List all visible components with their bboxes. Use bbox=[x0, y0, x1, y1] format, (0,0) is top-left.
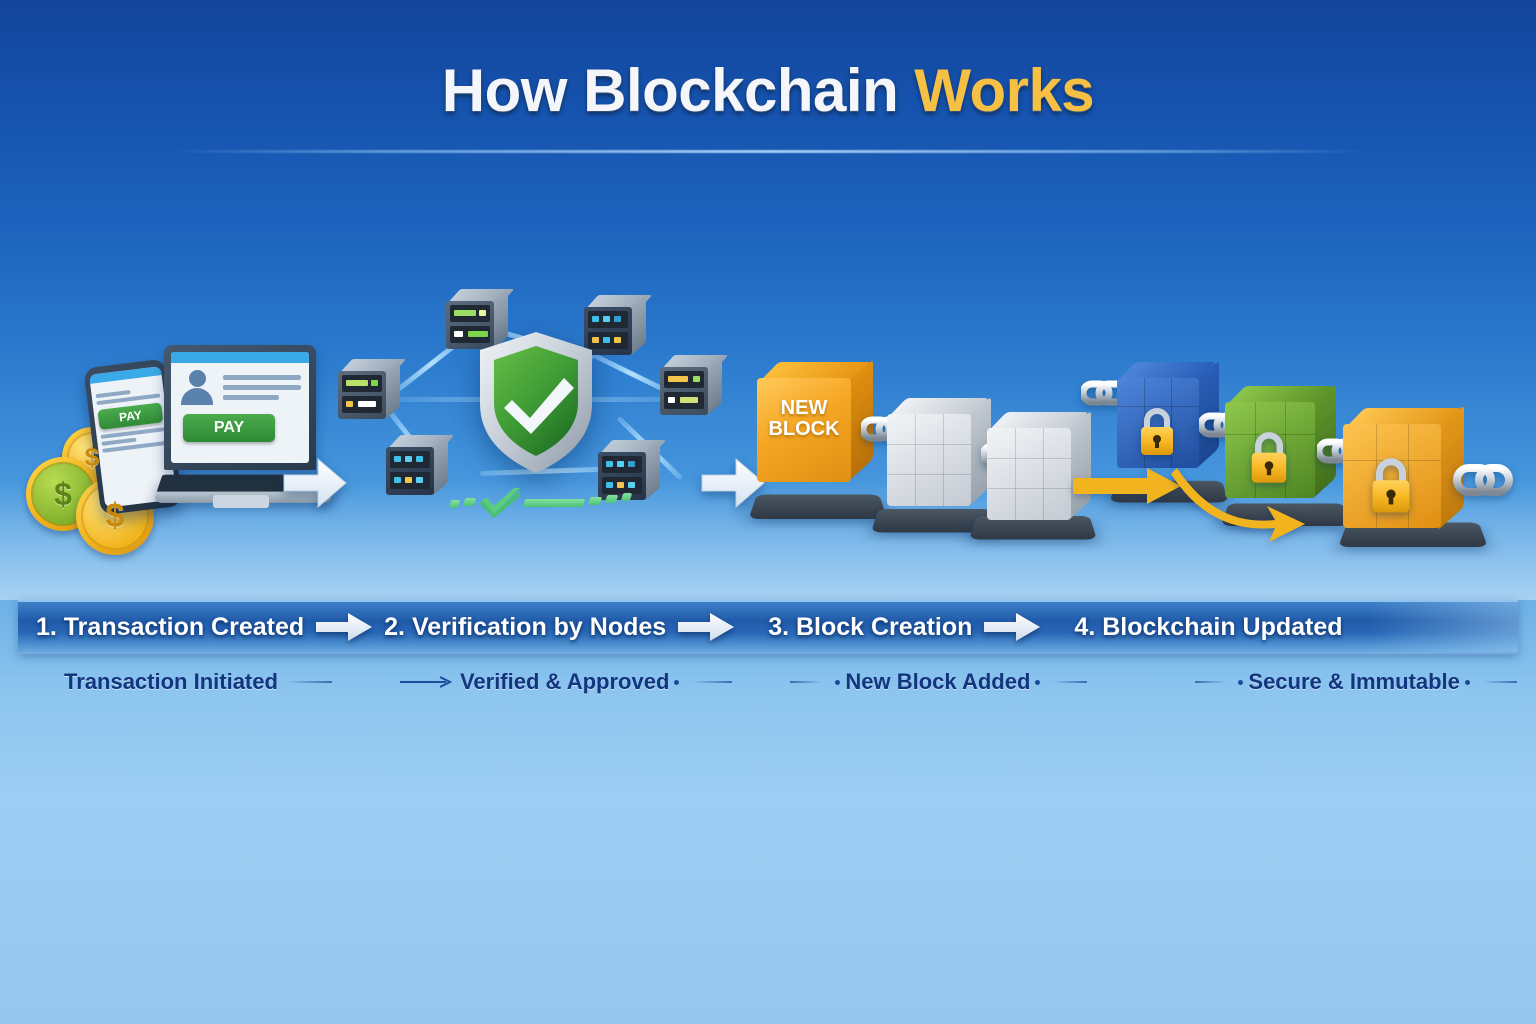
connector-line bbox=[692, 681, 732, 683]
sub-arrow-icon bbox=[400, 676, 454, 688]
block-pedestal bbox=[749, 495, 888, 520]
stage-block-creation: NEW BLOCK bbox=[735, 350, 1105, 565]
process-step-bar: 1. Transaction Created 2. Verification b… bbox=[18, 600, 1518, 654]
new-block-text: NEW BLOCK bbox=[765, 398, 843, 440]
sublabel-3: New Block Added bbox=[782, 662, 1095, 702]
sublabel-1-text: Transaction Initiated bbox=[64, 669, 278, 695]
step-4[interactable]: 4. Blockchain Updated bbox=[1074, 602, 1342, 652]
padlock-icon bbox=[1365, 456, 1417, 516]
sublabel-4: Secure & Immutable bbox=[1187, 662, 1525, 702]
connector-dot bbox=[674, 680, 679, 685]
update-arrow-curved-icon bbox=[1171, 462, 1311, 542]
sublabel-2: Verified & Approved bbox=[400, 662, 740, 702]
step-1-label: 1. Transaction Created bbox=[36, 613, 304, 642]
locked-block-orange bbox=[1343, 408, 1469, 530]
step-1[interactable]: 1. Transaction Created bbox=[36, 602, 384, 652]
connector-line bbox=[1195, 681, 1225, 683]
stage-transaction-created: $ $ $ PAY bbox=[20, 345, 320, 560]
stage-blockchain-updated bbox=[1095, 350, 1525, 565]
step-4-label: 4. Blockchain Updated bbox=[1074, 613, 1342, 642]
step-arrow-3-icon bbox=[984, 612, 1040, 642]
chain-block-cube bbox=[887, 398, 995, 506]
chain-link-icon bbox=[1453, 458, 1513, 502]
step-3[interactable]: 3. Block Creation bbox=[768, 602, 1052, 652]
laptop-pay-button[interactable]: PAY bbox=[183, 414, 275, 442]
phone-pay-button[interactable]: PAY bbox=[97, 402, 163, 430]
network-node bbox=[338, 359, 400, 419]
approved-check-icon bbox=[450, 490, 630, 518]
profile-detail-lines bbox=[223, 370, 301, 405]
sublabel-2-text: Verified & Approved bbox=[460, 669, 669, 695]
step-2-label: 2. Verification by Nodes bbox=[384, 613, 666, 642]
illustration-scene: $ $ $ PAY bbox=[0, 255, 1536, 600]
title-primary: How Blockchain bbox=[442, 57, 915, 124]
title-accent: Works bbox=[914, 57, 1094, 124]
sublabel-3-text: New Block Added bbox=[845, 669, 1030, 695]
connector-line bbox=[1483, 681, 1517, 683]
coin-symbol: $ bbox=[76, 477, 154, 555]
step-3-label: 3. Block Creation bbox=[768, 613, 972, 642]
step-arrow-2-icon bbox=[678, 612, 734, 642]
connector-line bbox=[1053, 681, 1087, 683]
network-node bbox=[386, 435, 448, 495]
update-arrow-straight-icon bbox=[1073, 466, 1183, 506]
step-2[interactable]: 2. Verification by Nodes bbox=[384, 602, 746, 652]
verification-shield-icon bbox=[476, 330, 596, 475]
page-title: How Blockchain Works bbox=[0, 56, 1536, 125]
coin-stack-front: $ bbox=[76, 477, 154, 555]
sublabel-1: Transaction Initiated bbox=[64, 662, 340, 702]
connector-dot bbox=[1035, 680, 1040, 685]
network-node bbox=[660, 355, 722, 415]
avatar bbox=[180, 370, 214, 404]
connector-dot bbox=[1465, 680, 1470, 685]
connector-line bbox=[286, 681, 332, 683]
step-arrow-1-icon bbox=[316, 612, 372, 642]
laptop-title-bar bbox=[171, 352, 309, 363]
title-divider bbox=[170, 150, 1370, 153]
stage-verification-by-nodes bbox=[330, 275, 730, 560]
connector-dot bbox=[1238, 680, 1243, 685]
new-block-cube: NEW BLOCK bbox=[757, 362, 875, 482]
sublabel-4-text: Secure & Immutable bbox=[1248, 669, 1460, 695]
padlock-icon bbox=[1135, 406, 1179, 458]
connector-line bbox=[790, 681, 822, 683]
laptop-trackpad bbox=[213, 495, 269, 508]
step-sublabel-strip: Transaction Initiated Verified & Approve… bbox=[18, 662, 1518, 702]
connector-dot bbox=[835, 680, 840, 685]
